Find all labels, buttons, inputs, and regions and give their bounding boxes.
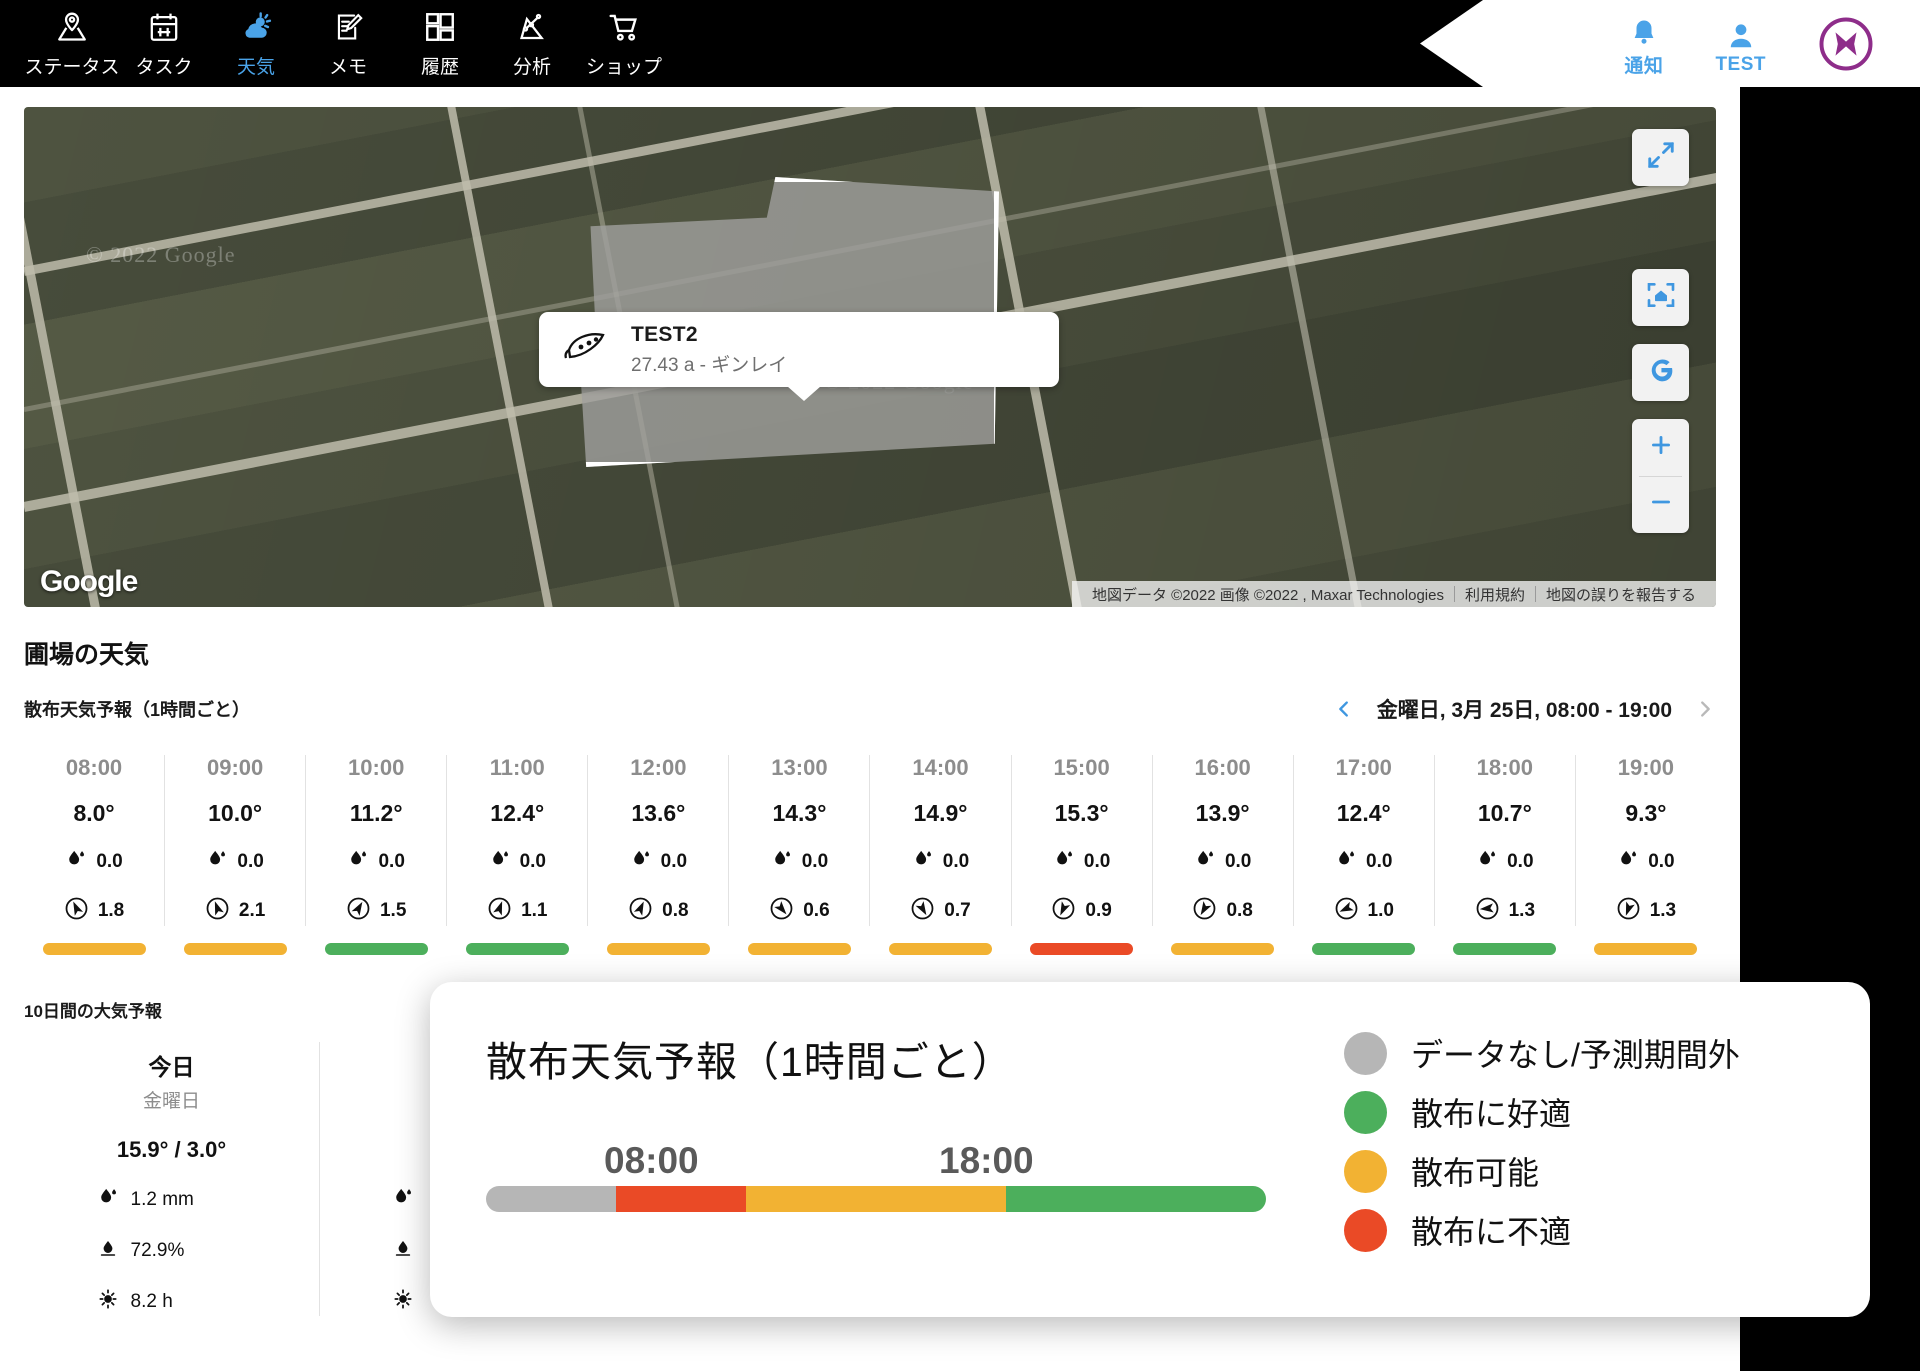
hour-wind-value: 1.0 bbox=[1368, 900, 1394, 922]
map-field-boundary bbox=[1232, 107, 1384, 607]
overlay-title: 散布天気予報（1時間ごと） bbox=[486, 1028, 1344, 1088]
wind-direction-compass-icon bbox=[628, 896, 653, 926]
hour-time: 09:00 bbox=[207, 755, 263, 781]
overlay-start-time: 08:00 bbox=[604, 1140, 699, 1182]
hour-rain: 0.0 bbox=[630, 847, 687, 876]
hourly-forecast-cell[interactable]: 16:0013.9°0.00.8 bbox=[1152, 755, 1293, 926]
rain-drop-icon bbox=[489, 847, 511, 876]
selected-date-label: 金曜日, 3月 25日, 08:00 - 19:00 bbox=[1377, 694, 1672, 724]
zoom-in-button[interactable] bbox=[1632, 419, 1689, 476]
hour-rain: 0.0 bbox=[1617, 847, 1674, 876]
attribution-terms-link[interactable]: 利用規約 bbox=[1455, 584, 1535, 605]
nav-item-label: メモ bbox=[329, 52, 367, 79]
hour-wind-value: 0.7 bbox=[944, 900, 970, 922]
rain-drop-icon bbox=[912, 847, 934, 876]
hourly-forecast-cell[interactable]: 19:009.3°0.01.3 bbox=[1575, 755, 1716, 926]
home-frame-icon bbox=[1645, 279, 1677, 316]
overlay-left: 散布天気予報（1時間ごと） 08:00 18:00 bbox=[486, 1028, 1344, 1271]
hour-rain-value: 0.0 bbox=[1225, 851, 1251, 873]
hour-wind: 1.5 bbox=[346, 896, 406, 926]
wind-direction-compass-icon bbox=[769, 896, 794, 926]
legend-color-dot bbox=[1344, 1032, 1387, 1075]
hour-wind-value: 2.1 bbox=[239, 900, 265, 922]
hourly-forecast-row: 08:008.0°0.01.809:0010.0°0.02.110:0011.2… bbox=[24, 755, 1716, 926]
status-bar-cell bbox=[1293, 943, 1434, 955]
hour-time: 10:00 bbox=[348, 755, 404, 781]
hour-wind: 1.1 bbox=[487, 896, 547, 926]
hour-wind: 1.3 bbox=[1475, 896, 1535, 926]
hour-time: 14:00 bbox=[912, 755, 968, 781]
wind-direction-compass-icon bbox=[64, 896, 89, 926]
hour-temperature: 14.9° bbox=[914, 800, 968, 827]
hour-wind-value: 1.8 bbox=[98, 900, 124, 922]
legend-label: 散布に好適 bbox=[1411, 1089, 1571, 1135]
rain-drop-icon bbox=[1617, 847, 1639, 876]
wind-direction-compass-icon bbox=[1051, 896, 1076, 926]
hour-rain: 0.0 bbox=[1476, 847, 1533, 876]
legend-label: 散布に不適 bbox=[1411, 1207, 1571, 1253]
status-bar bbox=[1453, 943, 1556, 955]
status-bar bbox=[325, 943, 428, 955]
hour-rain: 0.0 bbox=[771, 847, 828, 876]
hour-wind-value: 1.3 bbox=[1650, 900, 1676, 922]
nav-item-label: 分析 bbox=[513, 52, 551, 79]
status-bar-cell bbox=[1434, 943, 1575, 955]
legend-color-dot bbox=[1344, 1091, 1387, 1134]
status-bar-cell bbox=[165, 943, 306, 955]
hour-temperature: 15.3° bbox=[1055, 800, 1109, 827]
status-bar bbox=[1594, 943, 1697, 955]
hour-rain-value: 0.0 bbox=[237, 851, 263, 873]
sun-hours-icon bbox=[97, 1287, 119, 1316]
day-rain: 1.2 mm bbox=[97, 1185, 247, 1214]
status-bar bbox=[1312, 943, 1415, 955]
day-humidity-value: 72.9% bbox=[131, 1240, 185, 1262]
hour-wind: 0.6 bbox=[769, 896, 829, 926]
hour-time: 16:00 bbox=[1195, 755, 1251, 781]
overlay-bar-segment bbox=[616, 1186, 746, 1212]
notifications-label: 通知 bbox=[1624, 51, 1663, 78]
nav-item-5[interactable]: 履歴 bbox=[394, 5, 486, 79]
map-pin-icon bbox=[55, 5, 89, 49]
hour-time: 13:00 bbox=[771, 755, 827, 781]
hour-temperature: 12.4° bbox=[1337, 800, 1391, 827]
hour-time: 17:00 bbox=[1336, 755, 1392, 781]
humidity-drop-icon bbox=[97, 1236, 119, 1265]
hourly-status-bars bbox=[24, 943, 1716, 955]
status-bar-cell bbox=[1152, 943, 1293, 955]
status-bar-cell bbox=[588, 943, 729, 955]
hour-rain-value: 0.0 bbox=[802, 851, 828, 873]
hour-wind: 2.1 bbox=[205, 896, 265, 926]
weather-cloud-sun-icon bbox=[238, 5, 274, 49]
hour-temperature: 13.6° bbox=[631, 800, 685, 827]
legend-list: データなし/予測期間外散布に好適散布可能散布に不適 bbox=[1344, 1028, 1814, 1271]
hour-temperature: 11.2° bbox=[350, 800, 403, 827]
note-pencil-icon bbox=[332, 5, 364, 49]
status-bar bbox=[466, 943, 569, 955]
date-navigation: 金曜日, 3月 25日, 08:00 - 19:00 bbox=[1333, 693, 1716, 725]
map-field-boundary bbox=[24, 107, 118, 607]
wind-direction-compass-icon bbox=[205, 896, 230, 926]
hour-wind: 0.8 bbox=[1192, 896, 1252, 926]
hour-time: 19:00 bbox=[1618, 755, 1674, 781]
prev-day-button[interactable] bbox=[1333, 693, 1355, 725]
hour-time: 11:00 bbox=[490, 755, 545, 781]
humidity-drop-icon bbox=[392, 1236, 414, 1265]
hour-wind-value: 0.9 bbox=[1085, 900, 1111, 922]
calendar-icon bbox=[147, 5, 181, 49]
hourly-forecast-cell[interactable]: 12:0013.6°0.00.8 bbox=[587, 755, 728, 926]
sun-hours-icon bbox=[392, 1287, 414, 1316]
status-bar-cell bbox=[1575, 943, 1716, 955]
status-bar bbox=[607, 943, 710, 955]
x-circle-logo-icon[interactable] bbox=[1818, 16, 1874, 72]
zoom-out-button[interactable] bbox=[1632, 476, 1689, 533]
hour-rain-value: 0.0 bbox=[1084, 851, 1110, 873]
hour-rain-value: 0.0 bbox=[1366, 851, 1392, 873]
overlay-bar-segment bbox=[486, 1186, 616, 1212]
status-bar bbox=[1171, 943, 1274, 955]
hour-rain: 0.0 bbox=[912, 847, 969, 876]
field-map[interactable]: © 2022 Google © 2022 Google TEST2 27.43 … bbox=[24, 107, 1716, 607]
day-temperature: 15.9° / 3.0° bbox=[117, 1137, 226, 1163]
nav-item-label: 天気 bbox=[237, 52, 275, 79]
field-area-crop: 27.43 a - ギンレイ bbox=[631, 350, 787, 377]
hour-rain-value: 0.0 bbox=[520, 851, 546, 873]
nav-item-2[interactable]: タスク bbox=[118, 5, 210, 79]
rain-drop-icon bbox=[771, 847, 793, 876]
hour-rain-value: 0.0 bbox=[1507, 851, 1533, 873]
legend-item: 散布に不適 bbox=[1344, 1207, 1814, 1253]
hour-rain: 0.0 bbox=[206, 847, 263, 876]
overlay-time-labels: 08:00 18:00 bbox=[486, 1140, 1266, 1186]
hour-rain-value: 0.0 bbox=[96, 851, 122, 873]
user-label: TEST bbox=[1715, 54, 1766, 76]
map-zoom-controls bbox=[1632, 419, 1689, 533]
app-root: ステータスタスク天気メモ履歴分析ショップ 通知 TEST bbox=[0, 0, 1920, 1371]
rain-drop-icon bbox=[1476, 847, 1498, 876]
analytics-icon bbox=[515, 5, 549, 49]
hour-rain: 0.0 bbox=[347, 847, 404, 876]
user-account-button[interactable]: TEST bbox=[1715, 12, 1766, 76]
nav-item-4[interactable]: メモ bbox=[302, 5, 394, 79]
hour-temperature: 9.3° bbox=[1625, 800, 1666, 827]
hour-temperature: 12.4° bbox=[490, 800, 544, 827]
layout-blocks-icon bbox=[423, 5, 457, 49]
spray-forecast-legend-panel[interactable]: 散布天気予報（1時間ごと） 08:00 18:00 データなし/予測期間外散布に… bbox=[430, 982, 1870, 1317]
google-maps-button[interactable] bbox=[1632, 344, 1689, 401]
wind-direction-compass-icon bbox=[346, 896, 371, 926]
hour-time: 15:00 bbox=[1053, 755, 1109, 781]
status-bar-cell bbox=[729, 943, 870, 955]
overlay-bar-segment bbox=[746, 1186, 876, 1212]
legend-label: データなし/予測期間外 bbox=[1411, 1030, 1740, 1076]
hour-rain-value: 0.0 bbox=[661, 851, 687, 873]
nav-item-label: ショップ bbox=[586, 52, 662, 79]
rain-drop-icon bbox=[392, 1185, 414, 1214]
hour-wind-value: 0.8 bbox=[1226, 900, 1252, 922]
hourly-forecast-cell[interactable]: 15:0015.3°0.00.9 bbox=[1011, 755, 1152, 926]
rain-drop-icon bbox=[97, 1185, 119, 1214]
hour-rain: 0.0 bbox=[65, 847, 122, 876]
hourly-header-row: 散布天気予報（1時間ごと） 金曜日, 3月 25日, 08:00 - 19:00 bbox=[24, 693, 1716, 725]
google-g-icon bbox=[1644, 353, 1678, 392]
hourly-forecast-cell[interactable]: 10:0011.2°0.01.5 bbox=[305, 755, 446, 926]
rain-drop-icon bbox=[206, 847, 228, 876]
hourly-subtitle: 散布天気予報（1時間ごと） bbox=[24, 696, 250, 722]
hour-rain-value: 0.0 bbox=[378, 851, 404, 873]
hour-wind-value: 0.6 bbox=[803, 900, 829, 922]
nav-item-label: ステータス bbox=[25, 52, 120, 79]
hour-rain: 0.0 bbox=[1194, 847, 1251, 876]
hour-temperature: 10.7° bbox=[1478, 800, 1532, 827]
hour-rain: 0.0 bbox=[489, 847, 546, 876]
status-bar-cell bbox=[24, 943, 165, 955]
rain-drop-icon bbox=[1335, 847, 1357, 876]
nav-item-1[interactable]: ステータス bbox=[26, 5, 118, 79]
hour-time: 12:00 bbox=[630, 755, 686, 781]
soybean-pod-icon bbox=[563, 330, 609, 369]
hour-temperature: 8.0° bbox=[73, 800, 114, 827]
day-sun-value: 8.2 h bbox=[131, 1291, 173, 1313]
wind-direction-compass-icon bbox=[1475, 896, 1500, 926]
day-name: 今日 bbox=[149, 1048, 195, 1082]
attribution-data: 地図データ ©2022 画像 ©2022 , Maxar Technologie… bbox=[1082, 584, 1454, 605]
status-bar bbox=[1030, 943, 1133, 955]
rain-drop-icon bbox=[347, 847, 369, 876]
day-sun: 8.2 h bbox=[97, 1287, 247, 1316]
day-rain-value: 1.2 mm bbox=[131, 1189, 194, 1211]
rain-drop-icon bbox=[1194, 847, 1216, 876]
hour-wind: 0.7 bbox=[910, 896, 970, 926]
rain-drop-icon bbox=[1053, 847, 1075, 876]
page-title: 圃場の天気 bbox=[24, 635, 1740, 671]
plus-icon bbox=[1648, 432, 1674, 463]
status-bar-cell bbox=[447, 943, 588, 955]
overlay-bar-wrap: 08:00 18:00 bbox=[486, 1140, 1266, 1212]
hour-time: 08:00 bbox=[66, 755, 122, 781]
notifications-button[interactable]: 通知 bbox=[1624, 9, 1663, 78]
rain-drop-icon bbox=[65, 847, 87, 876]
status-bar-cell bbox=[1011, 943, 1152, 955]
rain-drop-icon bbox=[630, 847, 652, 876]
hourly-forecast-cell[interactable]: 14:0014.9°0.00.7 bbox=[869, 755, 1010, 926]
user-panel: 通知 TEST bbox=[1420, 0, 1920, 87]
hour-wind: 0.8 bbox=[628, 896, 688, 926]
hour-wind: 1.0 bbox=[1334, 896, 1394, 926]
status-bar bbox=[43, 943, 146, 955]
next-day-button[interactable] bbox=[1694, 693, 1716, 725]
wind-direction-compass-icon bbox=[1616, 896, 1641, 926]
wind-direction-compass-icon bbox=[1334, 896, 1359, 926]
expand-map-button[interactable] bbox=[1632, 129, 1689, 186]
map-attribution: 地図データ ©2022 画像 ©2022 , Maxar Technologie… bbox=[1072, 581, 1716, 607]
hour-temperature: 14.3° bbox=[772, 800, 826, 827]
legend-item: データなし/予測期間外 bbox=[1344, 1030, 1814, 1076]
status-bar bbox=[748, 943, 851, 955]
hourly-forecast-cell[interactable]: 09:0010.0°0.02.1 bbox=[164, 755, 305, 926]
legend-color-dot bbox=[1344, 1150, 1387, 1193]
hourly-forecast-cell[interactable]: 13:0014.3°0.00.6 bbox=[728, 755, 869, 926]
nav-item-label: タスク bbox=[135, 52, 192, 79]
overlay-status-bar bbox=[486, 1186, 1266, 1212]
status-bar bbox=[184, 943, 287, 955]
status-bar bbox=[889, 943, 992, 955]
hour-wind-value: 1.1 bbox=[521, 900, 547, 922]
shopping-cart-icon bbox=[606, 5, 642, 49]
expand-arrows-icon bbox=[1646, 140, 1676, 175]
hour-temperature: 10.0° bbox=[208, 800, 262, 827]
hour-wind: 0.9 bbox=[1051, 896, 1111, 926]
hourly-forecast-cell[interactable]: 17:0012.4°0.01.0 bbox=[1293, 755, 1434, 926]
hour-wind-value: 1.5 bbox=[380, 900, 406, 922]
hour-wind: 1.8 bbox=[64, 896, 124, 926]
hour-wind-value: 0.8 bbox=[662, 900, 688, 922]
nav-item-6[interactable]: 分析 bbox=[486, 5, 578, 79]
hourly-forecast-cell[interactable]: 11:0012.4°0.01.1 bbox=[446, 755, 587, 926]
status-bar-cell bbox=[306, 943, 447, 955]
day-humidity: 72.9% bbox=[97, 1236, 247, 1265]
field-info-card[interactable]: TEST2 27.43 a - ギンレイ bbox=[539, 312, 1059, 387]
recenter-field-button[interactable] bbox=[1632, 269, 1689, 326]
attribution-report-link[interactable]: 地図の誤りを報告する bbox=[1536, 584, 1706, 605]
overlay-bar-segment bbox=[1006, 1186, 1136, 1212]
hourly-forecast-cell[interactable]: 18:0010.7°0.01.3 bbox=[1434, 755, 1575, 926]
legend-label: 散布可能 bbox=[1411, 1148, 1539, 1194]
nav-item-label: 履歴 bbox=[421, 52, 459, 79]
hour-rain-value: 0.0 bbox=[943, 851, 969, 873]
status-bar-cell bbox=[870, 943, 1011, 955]
hourly-forecast-cell[interactable]: 08:008.0°0.01.8 bbox=[24, 755, 164, 926]
hour-time: 18:00 bbox=[1477, 755, 1533, 781]
legend-item: 散布可能 bbox=[1344, 1148, 1814, 1194]
wind-direction-compass-icon bbox=[1192, 896, 1217, 926]
hour-rain-value: 0.0 bbox=[1648, 851, 1674, 873]
nav-item-3[interactable]: 天気 bbox=[210, 5, 302, 79]
field-name: TEST2 bbox=[631, 323, 787, 347]
wind-direction-compass-icon bbox=[487, 896, 512, 926]
person-icon bbox=[1726, 12, 1756, 52]
minus-icon bbox=[1648, 489, 1674, 520]
hour-wind: 1.3 bbox=[1616, 896, 1676, 926]
hour-rain: 0.0 bbox=[1053, 847, 1110, 876]
hour-rain: 0.0 bbox=[1335, 847, 1392, 876]
daily-forecast-cell[interactable]: 今日金曜日15.9° / 3.0°1.2 mm72.9%8.2 h bbox=[24, 1042, 319, 1316]
legend-item: 散布に好適 bbox=[1344, 1089, 1814, 1135]
legend-color-dot bbox=[1344, 1209, 1387, 1252]
overlay-bar-segment bbox=[876, 1186, 1006, 1212]
nav-item-7[interactable]: ショップ bbox=[578, 5, 670, 79]
hour-temperature: 13.9° bbox=[1196, 800, 1250, 827]
day-of-week: 金曜日 bbox=[143, 1086, 200, 1113]
bell-icon bbox=[1629, 9, 1659, 49]
hour-wind-value: 1.3 bbox=[1509, 900, 1535, 922]
overlay-bar-segment bbox=[1136, 1186, 1266, 1212]
overlay-end-time: 18:00 bbox=[939, 1140, 1034, 1182]
wind-direction-compass-icon bbox=[910, 896, 935, 926]
google-logo: Google bbox=[40, 565, 137, 599]
